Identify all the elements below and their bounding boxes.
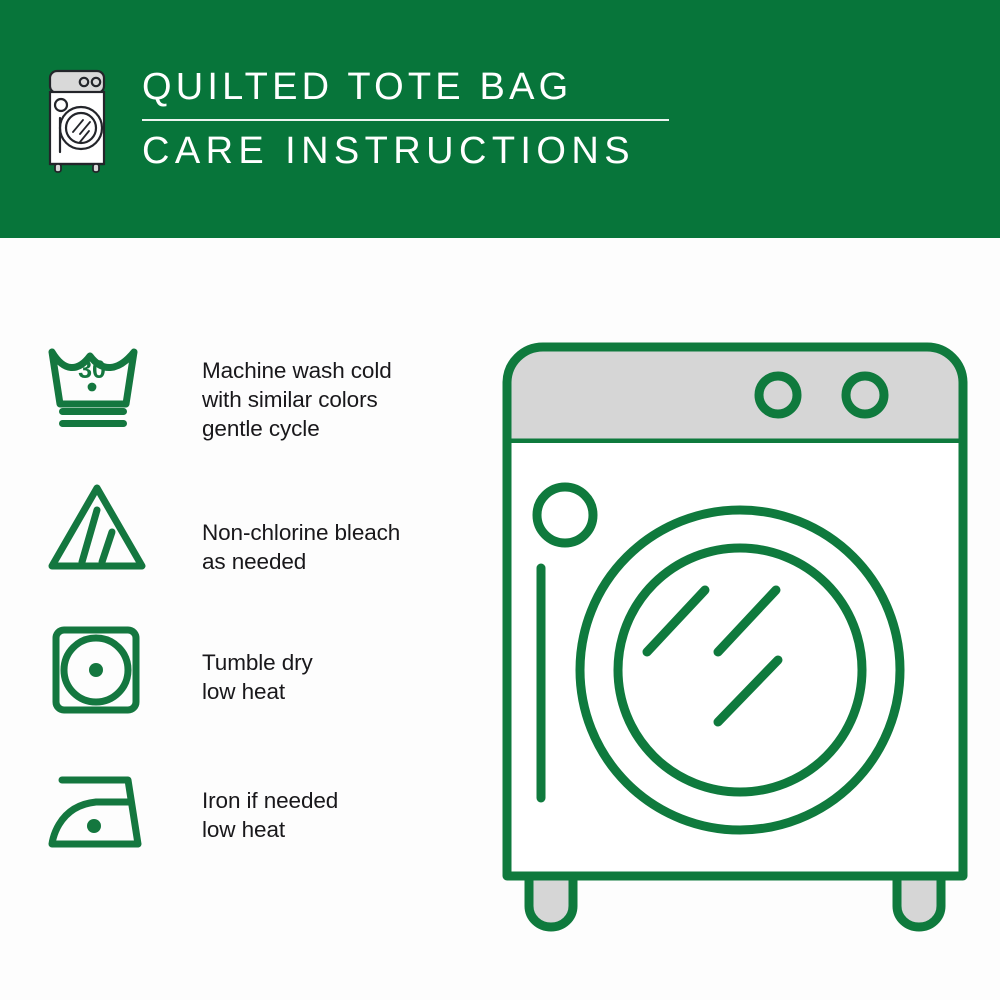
care-text-line: with similar colors [202,385,392,414]
wash-temperature-label: 30 [78,356,106,384]
care-text-line: Iron if needed [202,786,338,815]
care-item-bleach: Non-chlorine bleach as needed [46,476,476,616]
front-load-washing-machine-illustration [490,330,980,940]
title-block: QUILTED TOTE BAG CARE INSTRUCTIONS [142,62,669,176]
care-text-line: as needed [202,547,400,576]
care-symbol-wrapper [46,616,162,714]
care-symbol-wrapper [46,756,162,854]
care-symbol-wrapper: 30 [46,336,162,434]
control-panel [507,347,963,443]
wash-bar-2 [59,420,127,427]
care-item-text: Non-chlorine bleach as needed [202,476,400,576]
care-instructions-page: QUILTED TOTE BAG CARE INSTRUCTIONS 30 Ma… [0,0,1000,1000]
title-divider [142,119,669,121]
page-title: QUILTED TOTE BAG [142,62,669,112]
care-item-text: Iron if needed low heat [202,756,338,844]
tumble-dry-low-icon [46,622,150,714]
care-item-text: Tumble dry low heat [202,616,313,706]
care-text-line: low heat [202,677,313,706]
care-text-line: Non-chlorine bleach [202,518,400,547]
non-chlorine-bleach-triangle-icon [46,482,150,574]
care-text-line: Machine wash cold [202,356,392,385]
foot-left [529,876,573,927]
care-item-tumble-dry: Tumble dry low heat [46,616,476,756]
page-header: QUILTED TOTE BAG CARE INSTRUCTIONS [0,0,1000,238]
care-item-machine-wash: 30 Machine wash cold with similar colors… [46,336,476,476]
care-item-text: Machine wash cold with similar colors ge… [202,336,392,443]
wash-bar-1 [59,408,127,415]
wash-dot [88,383,97,392]
iron-dot [87,819,101,833]
wash-tub-30-icon: 30 [46,342,150,434]
tumble-dry-dot [89,663,103,677]
care-text-line: low heat [202,815,338,844]
iron-low-heat-icon [46,762,150,854]
care-item-iron: Iron if needed low heat [46,756,476,896]
care-text-line: Tumble dry [202,648,313,677]
page-subtitle: CARE INSTRUCTIONS [142,126,669,176]
washing-machine-icon [46,68,108,174]
care-text-line: gentle cycle [202,414,392,443]
care-symbol-wrapper [46,476,162,574]
care-instructions-list: 30 Machine wash cold with similar colors… [46,336,476,896]
foot-right [897,876,941,927]
header-content: QUILTED TOTE BAG CARE INSTRUCTIONS [46,62,669,176]
